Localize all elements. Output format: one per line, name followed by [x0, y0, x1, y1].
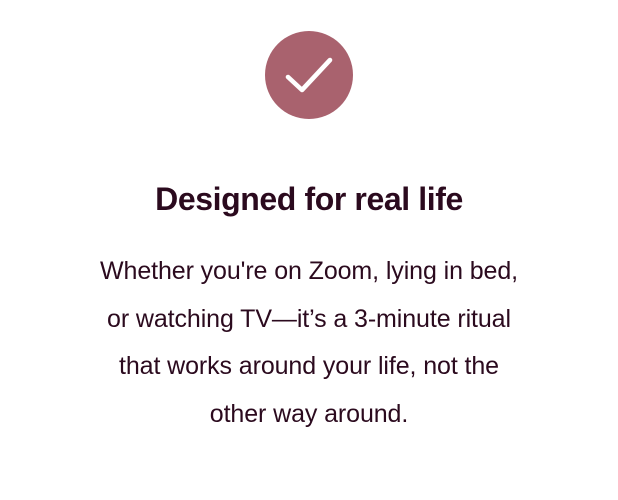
- description-text: Whether you're on Zoom, lying in bed, or…: [29, 248, 589, 438]
- check-circle-icon: [265, 31, 353, 119]
- page-title: Designed for real life: [155, 183, 463, 215]
- check-badge: [265, 31, 353, 119]
- description-line: or watching TV—it’s a 3-minute ritual: [29, 296, 589, 344]
- description-line: Whether you're on Zoom, lying in bed,: [29, 248, 589, 296]
- checkmark-glyph: [283, 55, 335, 95]
- description-line: other way around.: [29, 391, 589, 439]
- feature-card: Designed for real life Whether you're on…: [0, 0, 618, 500]
- description-line: that works around your life, not the: [29, 343, 589, 391]
